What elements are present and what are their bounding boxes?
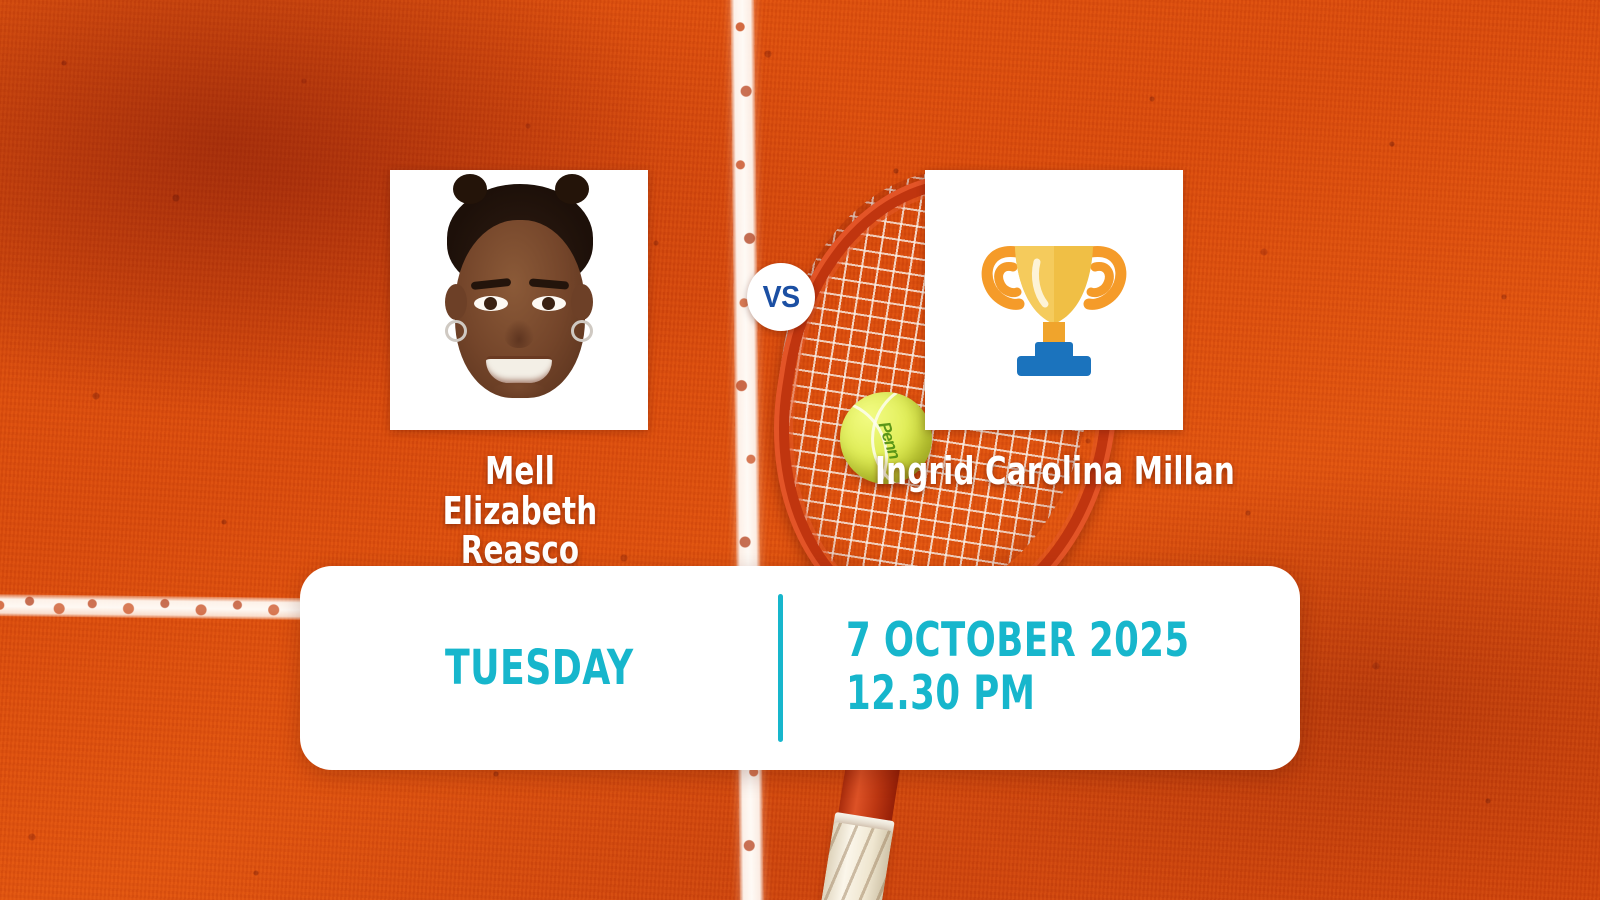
ear-left: [445, 284, 467, 320]
chin: [492, 382, 546, 400]
trophy-icon: [969, 220, 1139, 380]
mouth: [486, 356, 552, 383]
player-right-name: Ingrid Carolina Millan: [870, 452, 1240, 492]
versus-badge: VS: [747, 263, 815, 331]
racket-grip: [804, 822, 893, 900]
eye-left: [474, 296, 508, 311]
earring-left: [445, 320, 467, 342]
schedule-date: 7 OCTOBER 2025: [846, 615, 1227, 668]
schedule-datetime-section: 7 OCTOBER 2025 12.30 PM: [783, 615, 1300, 720]
match-schedule-card: TUESDAY 7 OCTOBER 2025 12.30 PM: [300, 566, 1300, 770]
earring-right: [571, 320, 593, 342]
match-preview-banner: Penn Mell Elizabeth Reasco Gonzalez: [0, 0, 1600, 900]
schedule-day: TUESDAY: [445, 640, 634, 696]
schedule-day-section: TUESDAY: [300, 640, 778, 696]
versus-label: VS: [762, 279, 799, 315]
player-left-photo: [390, 170, 648, 430]
player-right-photo: [925, 170, 1183, 430]
eye-right: [532, 296, 566, 311]
player-right: Ingrid Carolina Millan: [925, 170, 1185, 492]
headshot-illustration: [421, 180, 617, 420]
player-left: Mell Elizabeth Reasco Gonzalez: [390, 170, 650, 610]
court-line-horizontal: [0, 594, 310, 620]
schedule-time: 12.30 PM: [846, 668, 1227, 721]
nose: [504, 320, 534, 348]
ear-right: [571, 284, 593, 320]
